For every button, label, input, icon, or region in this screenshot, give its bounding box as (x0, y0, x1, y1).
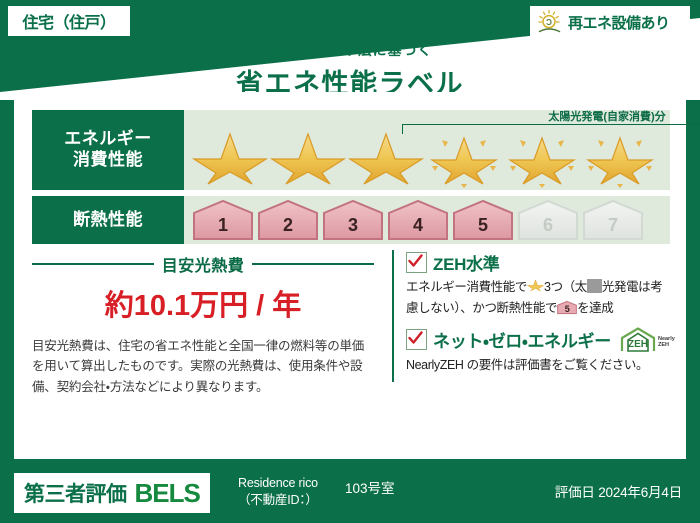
insulation-performance-label-text: 断熱性能 (73, 210, 143, 231)
insulation-level-4: 4 (387, 199, 449, 241)
redacted-character-block (587, 279, 602, 293)
zeh-standard-item: ZEH水準 エネルギー消費性能で3つ（太光発電は考慮しない）、かつ断熱性能で5を… (406, 250, 674, 318)
insulation-level-6: 6 (517, 199, 579, 241)
energy-performance-label-line2: 消費性能 (73, 150, 143, 171)
zeh-desc-part3: を達成 (577, 301, 613, 315)
solar-annotation-text: 太陽光発電(自家消費)分 (402, 111, 700, 123)
cost-heading-rule-left (32, 263, 154, 265)
star-icon-3 (348, 126, 424, 188)
room-number: 103号室 (345, 477, 395, 497)
svg-text:Ɔ: Ɔ (546, 18, 552, 27)
energy-performance-row: エネルギー 消費性能 太陽光発電(自家消費)分 (32, 110, 670, 190)
cost-heading-text: 目安光熱費 (162, 252, 245, 276)
inline-star-icon (527, 277, 544, 299)
insulation-performance-label: 断熱性能 (32, 196, 184, 244)
insulation-level-2: 2 (257, 199, 319, 241)
insulation-level-1: 1 (192, 199, 254, 241)
zeh-desc-star-count: 3つ（太 (544, 280, 587, 294)
star-icon-2 (270, 126, 346, 188)
star-icon-1 (192, 126, 268, 188)
zeh-standard-checkbox[interactable] (406, 252, 427, 273)
zeh-logo-sub-line2: ZEH (658, 342, 675, 348)
insulation-level-3: 3 (322, 199, 384, 241)
bels-jp-label: 第三者評価 (24, 478, 127, 508)
zeh-standard-title: ZEH水準 (433, 250, 500, 275)
net-zero-energy-checkbox[interactable] (406, 329, 427, 350)
energy-performance-label-line1: エネルギー (64, 129, 152, 150)
insulation-level-7: 7 (582, 199, 644, 241)
insulation-level-5-number: 5 (452, 215, 514, 236)
utility-cost-section: 目安光熱費 約10.1万円 / 年 目安光熱費は、住宅の省エネ性能と全国一律の燃… (32, 252, 374, 397)
star-icon-4-solar (426, 126, 502, 188)
inline-house-icon: 5 (557, 300, 577, 315)
cost-heading-rule-right (252, 263, 374, 265)
bels-en-label: BELS (135, 478, 200, 509)
energy-performance-label: エネルギー 消費性能 (32, 110, 184, 190)
inline-house-number: 5 (557, 303, 577, 317)
insulation-level-6-number: 6 (517, 215, 579, 236)
insulation-level-3-number: 3 (322, 215, 384, 236)
check-icon (408, 331, 423, 346)
zeh-desc-part1: エネルギー消費性能で (406, 280, 527, 294)
star-icon-5-solar (504, 126, 580, 188)
net-zero-energy-title: ネット・ゼロ・エネルギー (433, 327, 611, 352)
utility-cost-note: 目安光熱費は、住宅の省エネ性能と全国一律の燃料等の単価を用いて算出したものです。… (32, 336, 374, 397)
star-rating (192, 126, 658, 188)
label-body-card: エネルギー 消費性能 太陽光発電(自家消費)分 (14, 92, 686, 459)
energy-performance-body: 太陽光発電(自家消費)分 (184, 110, 670, 190)
net-zero-energy-description: NearlyZEH の要件は評価書をご覧ください。 (406, 356, 674, 375)
evaluation-date: 評価日 2024年6月4日 (555, 481, 682, 501)
insulation-performance-body: 1 2 3 (184, 196, 670, 244)
property-id: （不動産ID：） (238, 492, 318, 509)
insulation-level-7-number: 7 (582, 215, 644, 236)
utility-cost-heading: 目安光熱費 (32, 252, 374, 276)
zeh-house-logo-icon: ZEH (619, 326, 657, 354)
renewable-equipment-badge: Ɔ 再エネ設備あり (530, 6, 690, 38)
label-footer: 第三者評価 BELS Residence rico （不動産ID：） 103号室… (0, 465, 700, 523)
sun-icon: Ɔ (536, 9, 564, 35)
zeh-standard-header: ZEH水準 (406, 250, 674, 275)
category-tag: 住宅（住戸） (8, 6, 130, 36)
bels-certification-box: 第三者評価 BELS (14, 473, 210, 513)
property-info: Residence rico （不動産ID：） (238, 475, 318, 509)
utility-cost-value: 約10.1万円 / 年 (32, 282, 374, 324)
zeh-section: ZEH水準 エネルギー消費性能で3つ（太光発電は考慮しない）、かつ断熱性能で5を… (392, 250, 674, 382)
zeh-logo: ZEH Nearly ZEH (619, 326, 675, 354)
check-icon (408, 254, 423, 269)
star-icon-6-solar (582, 126, 658, 188)
header-subtitle: 建築物省エネ法に基づく (0, 40, 700, 60)
net-zero-energy-header: ネット・ゼロ・エネルギー ZEH Nearly ZEH (406, 326, 674, 354)
zeh-standard-description: エネルギー消費性能で3つ（太光発電は考慮しない）、かつ断熱性能で5を達成 (406, 277, 674, 318)
insulation-level-1-number: 1 (192, 215, 254, 236)
insulation-level-5: 5 (452, 199, 514, 241)
insulation-level-4-number: 4 (387, 215, 449, 236)
insulation-level-2-number: 2 (257, 215, 319, 236)
svg-text:ZEH: ZEH (628, 339, 648, 350)
net-zero-energy-item: ネット・ゼロ・エネルギー ZEH Nearly ZEH NearlyZEH (406, 326, 674, 375)
energy-performance-label: 住宅（住戸） Ɔ 再エネ設備あり 建築物省エネ法に基づく 省エネ性能ラベル (0, 0, 700, 523)
property-name: Residence rico (238, 475, 318, 492)
renewable-badge-label: 再エネ設備あり (568, 12, 670, 33)
insulation-performance-row: 断熱性能 (32, 196, 670, 244)
insulation-level-scale: 1 2 3 (192, 199, 644, 241)
